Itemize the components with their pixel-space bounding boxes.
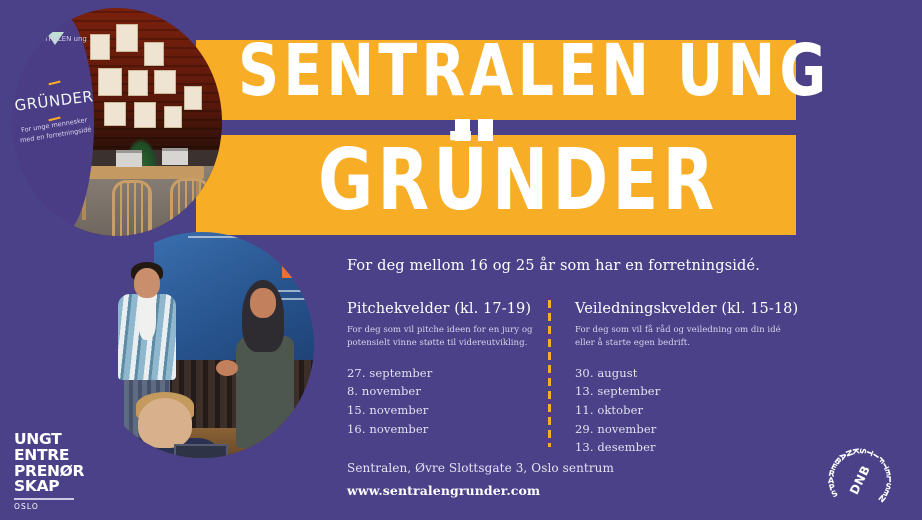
column-veiledningskvelder: Veiledningskvelder (kl. 15-18) For deg s… xyxy=(575,301,785,457)
list-item: 29. november xyxy=(575,420,785,439)
list-item: 8. november xyxy=(347,382,537,401)
logo-divider xyxy=(14,498,74,499)
wall-frame xyxy=(154,70,176,94)
slide-text-line xyxy=(188,236,250,238)
umlaut-dot-right xyxy=(478,119,493,141)
list-item: 27. september xyxy=(347,364,537,383)
dashed-column-divider xyxy=(548,300,551,447)
sdg-icon xyxy=(282,248,308,278)
column-description: For deg som vil få råd og veiledning om … xyxy=(575,324,785,351)
date-list: 27. september 8. november 15. november 1… xyxy=(347,364,537,439)
page-title-line-1: SENTRALEN UNG xyxy=(238,36,830,108)
wall-frame xyxy=(128,70,148,96)
column-description: For deg som vil pitche ideen for en jury… xyxy=(347,324,537,351)
list-item: 13. september xyxy=(575,382,785,401)
photo-office-with-grunder-banner: SENTRALEN ung GRÜNDER For unge mennesker… xyxy=(12,8,222,236)
tick-mark-icon xyxy=(47,77,60,86)
wall-frame xyxy=(90,34,110,60)
list-item: 30. august xyxy=(575,364,785,383)
audience-member-head xyxy=(138,398,192,448)
wall-frame xyxy=(164,106,182,128)
list-item: 11. oktober xyxy=(575,401,785,420)
logo-line-4: SKAP xyxy=(14,479,94,495)
wall-frame xyxy=(98,68,122,96)
logo-sparebankstiftelsen-dnb: DNB SPAREBANKSTIFTELSEN xyxy=(824,444,896,516)
wall-frame xyxy=(104,102,126,126)
chair xyxy=(112,180,152,236)
sdg-icon xyxy=(312,248,314,278)
column-pitchekvelder: Pitchekvelder (kl. 17-19) For deg som vi… xyxy=(347,301,537,438)
banner-subtitle: For unge mennesker med en forretningsidé xyxy=(17,114,93,146)
list-item: 16. november xyxy=(347,420,537,439)
chair xyxy=(170,178,210,236)
logo-city: OSLO xyxy=(14,502,94,511)
slide-text-line xyxy=(264,236,304,238)
presenter-right-head xyxy=(250,288,276,318)
date-list: 30. august 13. september 11. oktober 29.… xyxy=(575,364,785,457)
logo-ungt-entreprenorskap: UNGT ENTRE PRENØR SKAP OSLO xyxy=(14,432,94,511)
presentation-scene xyxy=(90,232,314,458)
wall-frame xyxy=(134,102,156,128)
office-scene: SENTRALEN ung GRÜNDER For unge mennesker… xyxy=(12,8,222,236)
wall-frame xyxy=(184,86,202,110)
wall-frame xyxy=(144,42,164,66)
website-url[interactable]: www.sentralengrunder.com xyxy=(347,483,540,498)
presenter-right-torso xyxy=(236,336,294,448)
wall-frame xyxy=(116,24,138,52)
presenter-left-shirt xyxy=(138,294,156,340)
audience-laptop xyxy=(174,444,228,458)
list-item: 15. november xyxy=(347,401,537,420)
banner-title: GRÜNDER xyxy=(13,87,95,115)
list-item: 13. desember xyxy=(575,438,785,457)
grunder-roll-up-banner: SENTRALEN ung GRÜNDER For unge mennesker… xyxy=(12,8,94,236)
laptop xyxy=(116,150,142,167)
banner-logo-text: SENTRALEN ung xyxy=(30,36,87,44)
photo-pitch-evening-presentation xyxy=(90,232,314,458)
venue-address: Sentralen, Øvre Slottsgate 3, Oslo sentr… xyxy=(347,461,614,475)
column-heading: Pitchekvelder (kl. 17-19) xyxy=(347,301,537,317)
laptop xyxy=(162,148,188,165)
tagline: For deg mellom 16 og 25 år som har en fo… xyxy=(347,258,760,274)
presenter-left-head xyxy=(134,268,160,298)
slide-text-line xyxy=(274,290,314,292)
page-title-line-2: GRÜNDER xyxy=(318,139,718,223)
presenter-right-hand xyxy=(216,360,238,376)
logo-center-text: DNB xyxy=(847,463,873,497)
column-heading: Veiledningskvelder (kl. 15-18) xyxy=(575,301,785,317)
umlaut-dot-left xyxy=(455,119,470,141)
